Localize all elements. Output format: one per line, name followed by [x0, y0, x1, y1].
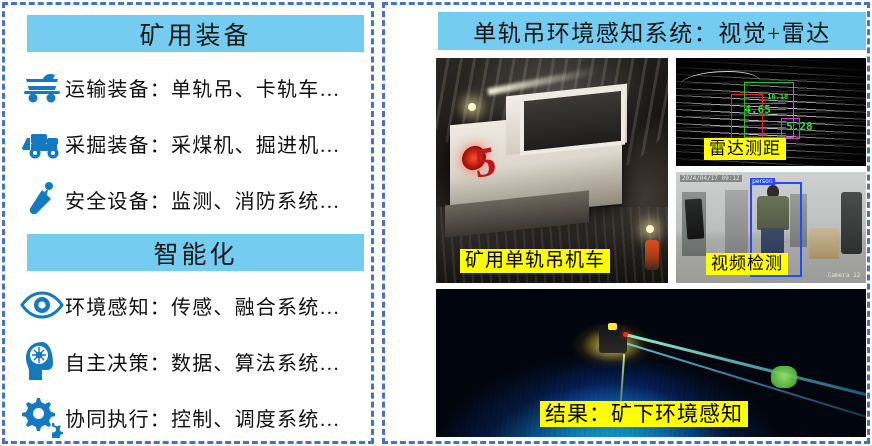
- feature-row-execution[interactable]: 协同执行：控制、调度系统…: [19, 391, 371, 443]
- fire-extinguisher-icon: [19, 176, 65, 222]
- scene-mannequin: [841, 192, 862, 254]
- feature-row-safety[interactable]: 安全设备：监测、消防系统…: [19, 173, 371, 225]
- locomotive-marker: [623, 332, 628, 337]
- feature-row-decision[interactable]: 自主决策：数据、算法系统…: [19, 335, 371, 387]
- caption-locomotive: 矿用单轨吊机车: [460, 249, 610, 273]
- radar-distance-value-2: 5.28: [786, 120, 813, 133]
- slide-root: 矿用装备 运输装备：单轨吊、卡轨车…: [0, 0, 872, 446]
- locomotive-cab-frame: [520, 86, 625, 155]
- section-header-system: 单轨吊环境感知系统：视觉+雷达: [438, 12, 866, 50]
- gears-icon: [19, 394, 65, 440]
- eye-icon: [19, 282, 65, 328]
- work-light-right: [646, 225, 654, 233]
- side-object-blob: [771, 366, 797, 388]
- mine-monorail-locomotive-photo: 5 矿用单轨吊机车: [436, 58, 668, 283]
- loader-truck-icon: [19, 120, 65, 166]
- video-timestamp-overlay: 2024/04/17 09:12: [680, 175, 742, 182]
- section-header-intelligent: 智能化: [27, 234, 364, 271]
- caption-video: 视频检测: [706, 253, 788, 275]
- feature-label-perception: 环境感知：传感、融合系统…: [65, 291, 341, 320]
- mining-equipment-panel: 矿用装备 运输装备：单轨吊、卡轨车…: [2, 2, 374, 444]
- detection-class-label: person: [750, 178, 775, 185]
- brain-head-icon: [19, 338, 65, 384]
- scene-carton: [809, 228, 839, 259]
- caption-result: 结果：矿下环境感知: [540, 401, 748, 427]
- radar-distance-value-3: 10.18: [767, 93, 788, 101]
- radar-ranging-view: 4.65 5.28 10.18 雷达测距: [676, 58, 866, 166]
- section-header-equipment: 矿用装备: [27, 15, 364, 52]
- feature-label-decision: 自主决策：数据、算法系统…: [65, 347, 341, 376]
- video-detection-view: person 2024/04/17 09:12 Camera 12 视频检测: [676, 172, 866, 283]
- feature-row-transport[interactable]: 运输装备：单轨吊、卡轨车…: [19, 61, 371, 113]
- locomotive-highlight: [608, 323, 617, 330]
- worker-figure: [645, 240, 659, 270]
- feature-row-mining[interactable]: 采掘装备：采煤机、掘进机…: [19, 117, 371, 169]
- feature-label-execution: 协同执行：控制、调度系统…: [65, 403, 341, 432]
- radar-distance-value-1: 4.65: [744, 103, 771, 116]
- feature-row-perception[interactable]: 环境感知：传感、融合系统…: [19, 279, 371, 331]
- environment-perception-result: 结果：矿下环境感知: [436, 289, 866, 437]
- caption-radar: 雷达测距: [704, 138, 786, 160]
- feature-label-mining: 采掘装备：采煤机、掘进机…: [65, 129, 341, 158]
- mine-cart-icon: [19, 64, 65, 110]
- video-camera-label: Camera 12: [828, 272, 861, 279]
- scene-cabinet-2: [725, 190, 748, 257]
- scene-dark-object: [684, 198, 704, 239]
- feature-label-safety: 安全设备：监测、消防系统…: [65, 185, 341, 214]
- feature-label-transport: 运输装备：单轨吊、卡轨车…: [65, 73, 341, 102]
